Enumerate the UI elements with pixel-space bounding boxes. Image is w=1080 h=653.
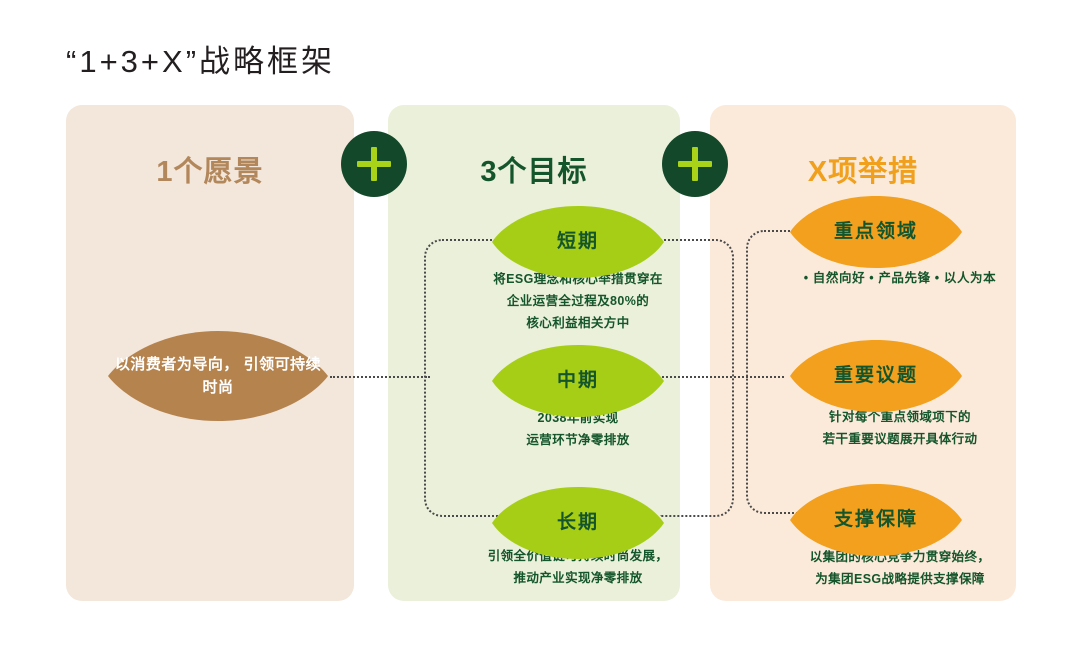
plus-icon-1-vertical-bar <box>371 147 377 181</box>
leaf-action-key-areas: 重点领域 <box>790 196 962 268</box>
leaf-goal-short-term: 短期 <box>492 206 664 278</box>
caption-goal-short-term-line-2: 核心利益相关方中 <box>420 313 736 335</box>
leaf-goal-long-term: 长期 <box>492 487 664 559</box>
panel-goals-heading: 3个目标 <box>388 148 680 190</box>
leaf-action-support-label: 支撑保障 <box>834 510 918 531</box>
plus-icon-1 <box>341 131 407 197</box>
caption-goal-mid-term-line-1: 运营环节净零排放 <box>420 430 736 452</box>
panel-actions-heading: X项举措 <box>710 148 1016 190</box>
leaf-action-material-topics-label: 重要议题 <box>834 366 918 387</box>
connector-vision-to-goals <box>330 376 430 378</box>
caption-action-key-areas: • 自然向好 • 产品先锋 • 以人为本 <box>742 268 1058 290</box>
leaf-action-material-topics: 重要议题 <box>790 340 962 412</box>
caption-action-key-areas-line-0: • 自然向好 • 产品先锋 • 以人为本 <box>742 268 1058 290</box>
leaf-vision: 以消费者为导向， 引领可持续时尚 <box>108 331 328 421</box>
leaf-goal-short-term-label: 短期 <box>557 232 599 253</box>
caption-action-support-line-1: 为集团ESG战略提供支撑保障 <box>742 569 1058 591</box>
leaf-vision-line-0: 以消费者为导向， <box>115 356 239 373</box>
plus-icon-2 <box>662 131 728 197</box>
plus-icon-2-vertical-bar <box>692 147 698 181</box>
leaf-action-key-areas-label: 重点领域 <box>834 222 918 243</box>
leaf-goal-long-term-label: 长期 <box>557 513 599 534</box>
page-title: “1+3+X”战略框架 <box>66 36 335 81</box>
leaf-goal-mid-term-label: 中期 <box>557 371 599 392</box>
caption-goal-short-term-line-1: 企业运营全过程及80%的 <box>420 291 736 313</box>
leaf-action-support: 支撑保障 <box>790 484 962 556</box>
caption-action-material-topics: 针对每个重点领域项下的 若干重要议题展开具体行动 <box>742 407 1058 451</box>
leaf-vision-label: 以消费者为导向， 引领可持续时尚 <box>108 353 328 400</box>
caption-action-material-topics-line-1: 若干重要议题展开具体行动 <box>742 429 1058 451</box>
caption-goal-short-term: 将ESG理念和核心举措贯穿在 企业运营全过程及80%的 核心利益相关方中 <box>420 269 736 335</box>
panel-vision-heading: 1个愿景 <box>66 148 354 190</box>
caption-goal-long-term-line-1: 推动产业实现净零排放 <box>420 568 736 590</box>
leaf-goal-mid-term: 中期 <box>492 345 664 417</box>
